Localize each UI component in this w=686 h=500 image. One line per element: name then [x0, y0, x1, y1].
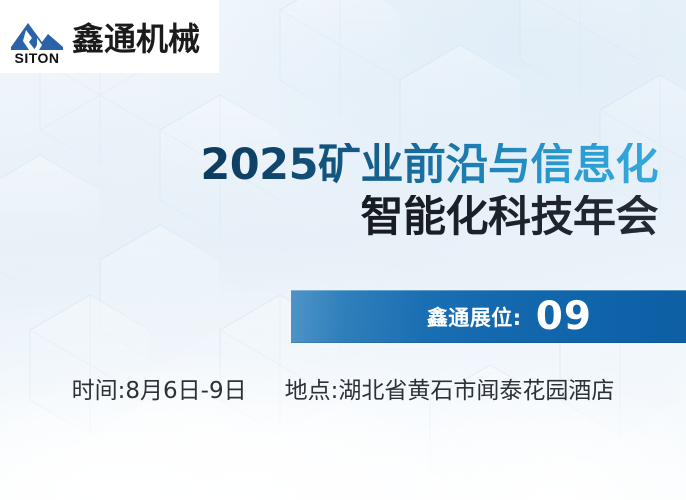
- page-title: 2025矿业前沿与信息化 智能化科技年会: [200, 143, 658, 240]
- mountain-logo-icon: SITON: [9, 17, 65, 65]
- hexagon-pattern-icon: [0, 0, 686, 500]
- event-poster: SITON 鑫通机械 2025矿业前沿与信息化 智能化科技年会 鑫通展位: 09…: [0, 0, 686, 500]
- headline-line-1: 2025矿业前沿与信息化: [200, 143, 658, 189]
- event-time: 时间:8月6日-9日: [72, 371, 247, 405]
- booth-label: 鑫通展位:: [427, 302, 522, 332]
- booth-banner: 鑫通展位: 09: [291, 290, 686, 343]
- booth-number: 09: [536, 297, 592, 336]
- background-glow-bottom: [0, 340, 686, 500]
- headline-line-2: 智能化科技年会: [200, 195, 658, 241]
- event-details: 时间:8月6日-9日 地点:湖北省黄石市闻泰花园酒店: [0, 371, 686, 405]
- company-name-cn: 鑫通机械: [72, 19, 200, 59]
- brand-logo: SITON 鑫通机械: [0, 0, 219, 73]
- event-place: 地点:湖北省黄石市闻泰花园酒店: [285, 371, 615, 405]
- svg-text:SITON: SITON: [14, 50, 59, 65]
